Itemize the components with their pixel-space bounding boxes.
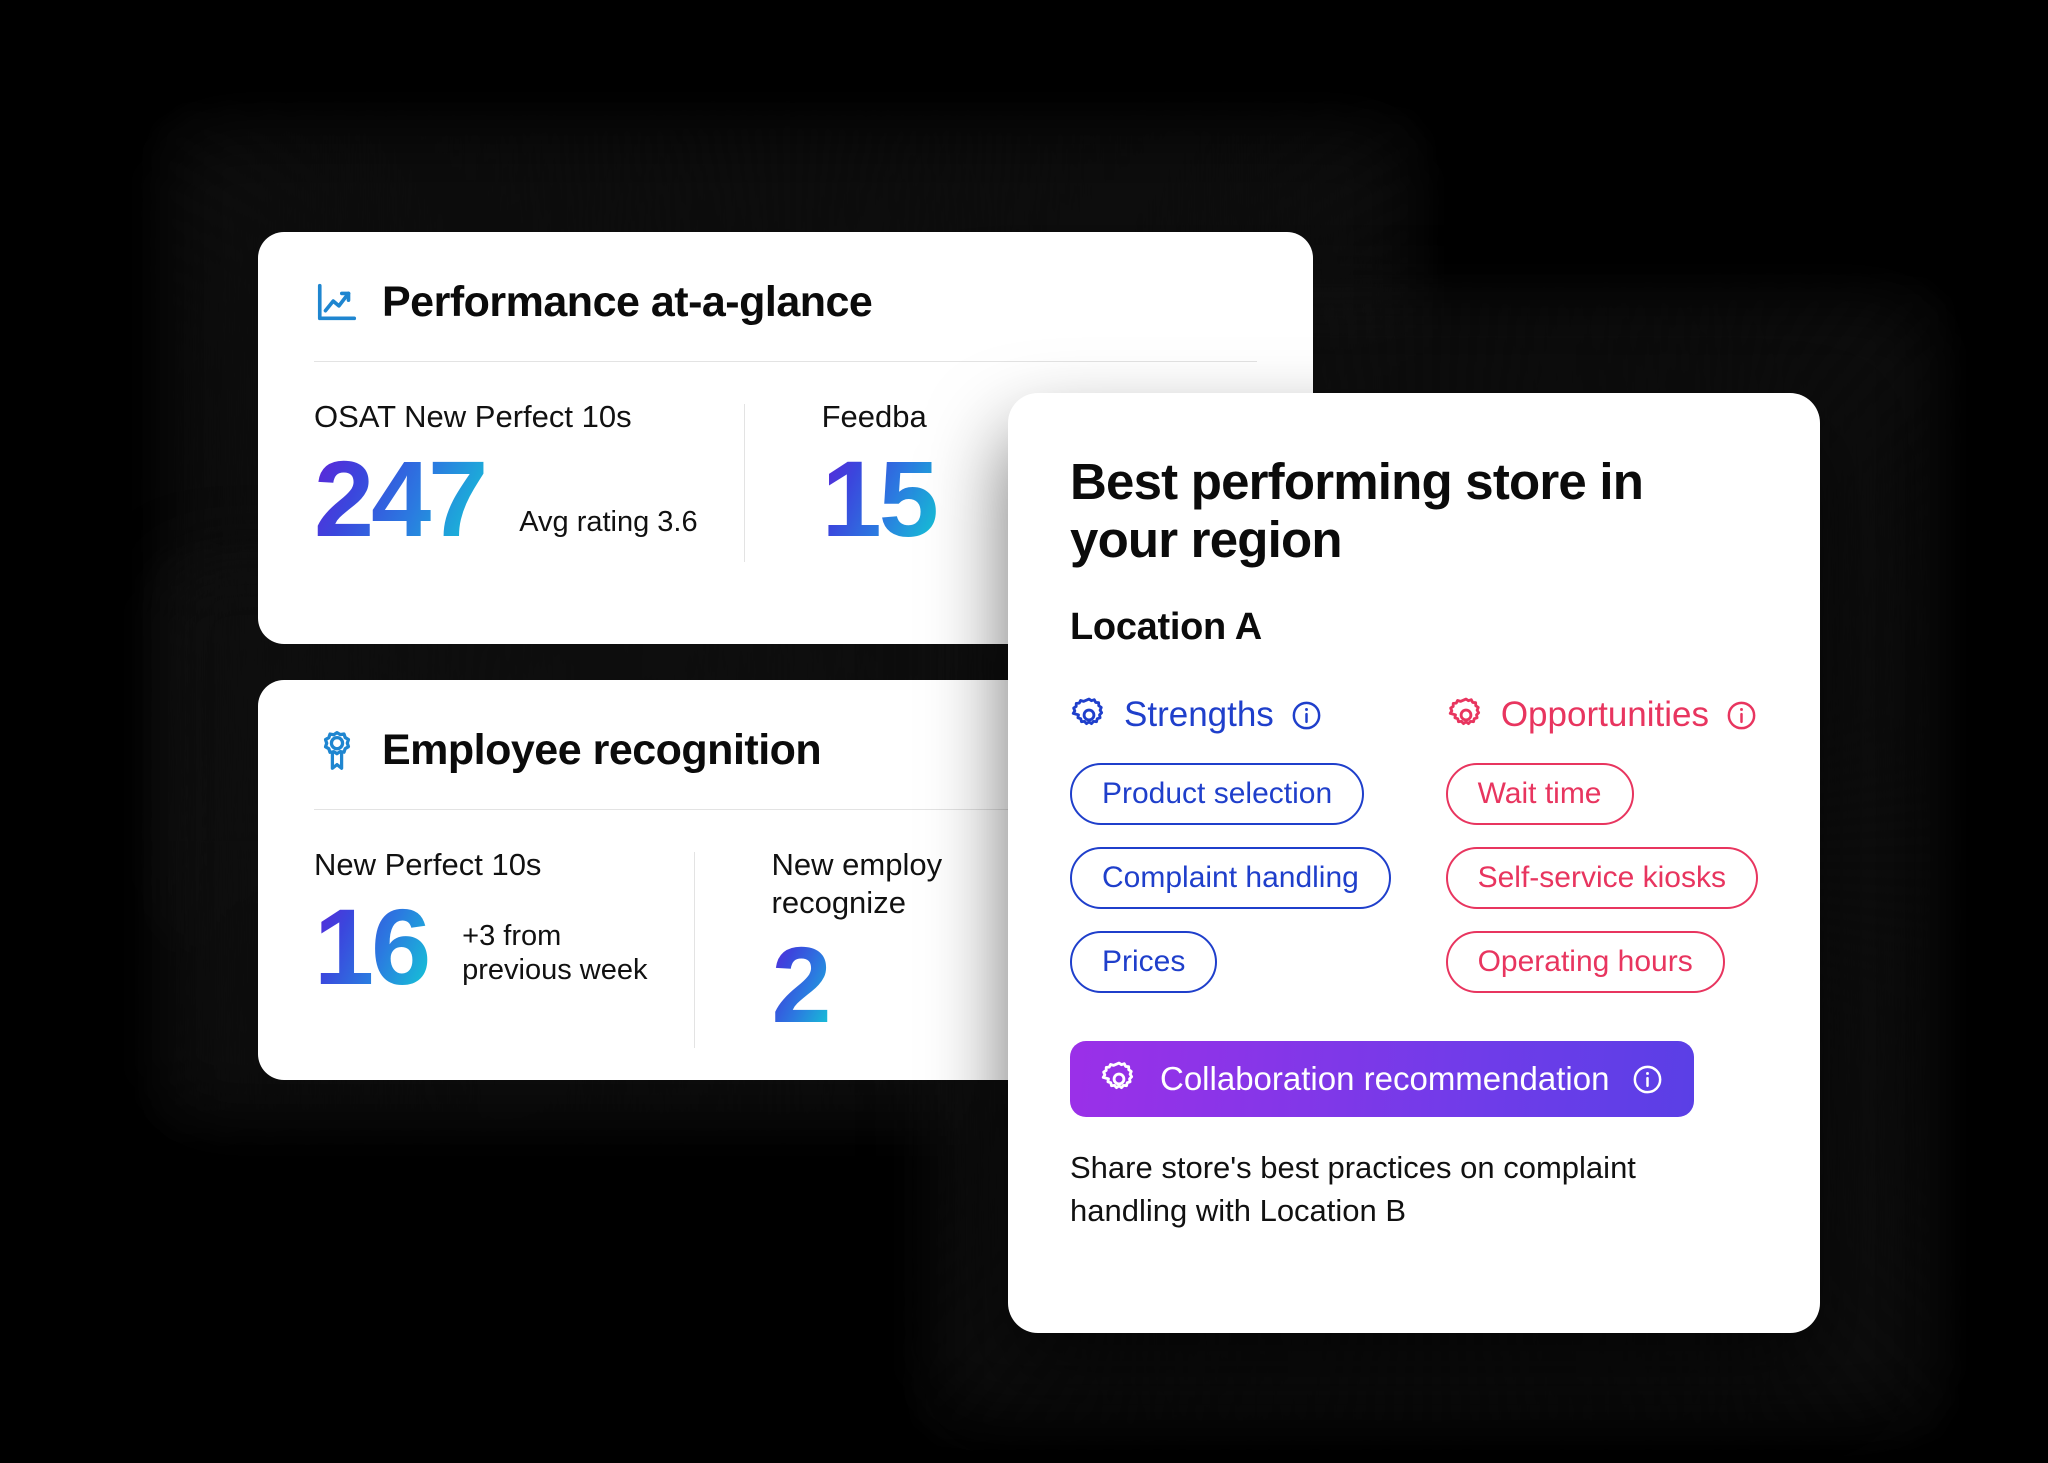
info-icon[interactable] [1725, 699, 1758, 732]
strength-chip[interactable]: Prices [1070, 931, 1217, 993]
best-store-title: Best performing store in your region [1070, 453, 1758, 568]
stat-subtext: +3 from previous week [462, 919, 647, 1005]
stat-value: 247 [314, 442, 485, 556]
opportunities-chip-list: Wait time Self-service kiosks Operating … [1446, 763, 1758, 1015]
strength-chip[interactable]: Complaint handling [1070, 847, 1391, 909]
line-chart-up-icon [314, 280, 360, 326]
strengths-label: Strengths [1124, 695, 1274, 735]
opportunity-chip[interactable]: Operating hours [1446, 931, 1725, 993]
insight-chip-columns: Product selection Complaint handling Pri… [1070, 763, 1758, 1015]
employee-card-title: Employee recognition [382, 726, 821, 775]
opportunities-heading[interactable]: Opportunities [1447, 695, 1758, 735]
stat-value: 16 [314, 890, 428, 1004]
stat-feedback: Feedba 15 [744, 398, 982, 556]
stat-osat: OSAT New Perfect 10s 247 Avg rating 3.6 [314, 398, 744, 556]
insight-column-headings: Strengths [1070, 695, 1758, 735]
collaboration-recommendation-label: Collaboration recommendation [1160, 1060, 1609, 1098]
stat-label: Feedba [822, 398, 936, 436]
stat-value: 2 [772, 928, 829, 1042]
opportunity-chip[interactable]: Wait time [1446, 763, 1634, 825]
stat-new-employees-recognized: New employ recognize 2 [694, 846, 989, 1042]
strength-chip[interactable]: Product selection [1070, 763, 1364, 825]
stat-label: OSAT New Perfect 10s [314, 398, 698, 436]
award-ribbon-icon [314, 728, 360, 774]
divider [314, 361, 1257, 362]
info-icon[interactable] [1290, 699, 1323, 732]
stat-separator [694, 852, 695, 1048]
gear-icon [1100, 1060, 1138, 1098]
stat-label: New employ recognize [772, 846, 943, 922]
strengths-chip-list: Product selection Complaint handling Pri… [1070, 763, 1446, 1015]
stat-label: New Perfect 10s [314, 846, 648, 884]
best-performing-store-card: Best performing store in your region Loc… [1008, 393, 1820, 1333]
recommendation-note: Share store's best practices on complain… [1070, 1147, 1758, 1233]
performance-card-header: Performance at-a-glance [258, 232, 1313, 327]
gear-icon [1070, 696, 1108, 734]
stat-new-perfect-10s: New Perfect 10s 16 +3 from previous week [314, 846, 694, 1042]
opportunities-label: Opportunities [1501, 695, 1709, 735]
stat-value: 15 [822, 442, 936, 556]
best-store-location: Location A [1070, 606, 1758, 649]
info-icon[interactable] [1631, 1063, 1664, 1096]
opportunity-chip[interactable]: Self-service kiosks [1446, 847, 1758, 909]
collaboration-recommendation-button[interactable]: Collaboration recommendation [1070, 1041, 1694, 1117]
page-title: Performance at-a-glance [382, 278, 872, 327]
gear-icon [1447, 696, 1485, 734]
strengths-heading[interactable]: Strengths [1070, 695, 1447, 735]
stat-subtext: Avg rating 3.6 [519, 505, 697, 556]
screenshot-root: Performance at-a-glance OSAT New Perfect… [0, 0, 2048, 1463]
stat-separator [744, 404, 745, 562]
